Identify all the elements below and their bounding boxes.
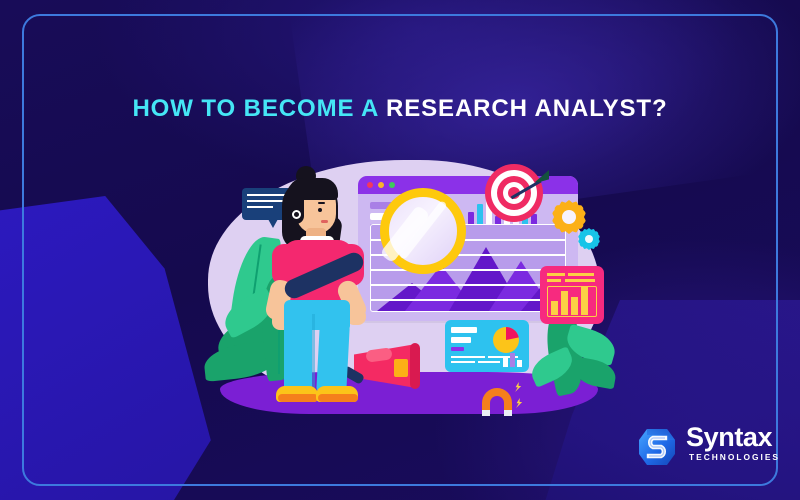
syntax-hex-mark-icon [636,426,678,468]
illustration-group [200,148,620,438]
page-title: HOW TO BECOME A RESEARCH ANALYST? [0,97,800,121]
card-bar-chart [540,266,604,324]
logo-tagline: TECHNOLOGIES [689,452,780,462]
dart-icon [509,172,551,196]
magnet-icon [482,386,524,416]
page-title-part-two: RESEARCH ANALYST? [386,95,668,122]
card-pie-chart [445,320,529,372]
pie-chart-icon [493,327,519,353]
brand-logo[interactable]: Syntax TECHNOLOGIES [636,424,781,470]
page-title-part-one: HOW TO BECOME A [132,95,378,122]
gear-small-icon [578,228,600,250]
logo-wordmark: Syntax [686,422,772,453]
magnifier-icon [320,170,500,320]
poster-canvas: HOW TO BECOME A RESEARCH ANALYST? [0,0,800,500]
